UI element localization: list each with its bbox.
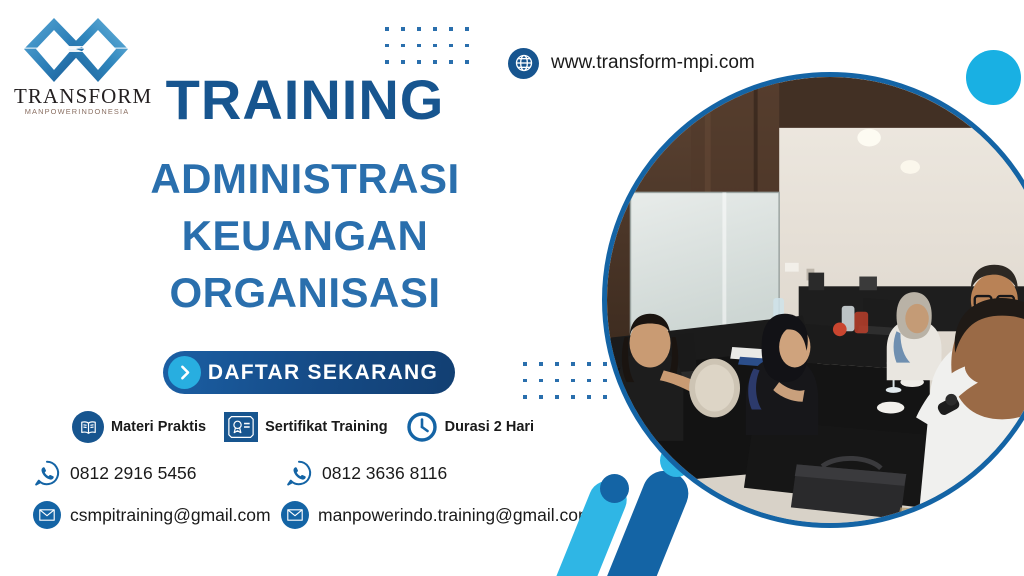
feature-item-durasi: Durasi 2 Hari bbox=[406, 409, 552, 445]
feature-label-sertifikat-training: Sertifikat Training bbox=[265, 419, 387, 435]
contact-email-1[interactable]: csmpitraining@gmail.com bbox=[33, 500, 271, 530]
register-now-label: DAFTAR SEKARANG bbox=[201, 361, 455, 385]
website-url-text: www.transform-mpi.com bbox=[551, 52, 755, 74]
chevron-right-icon bbox=[168, 356, 201, 389]
book-icon bbox=[72, 411, 104, 443]
page-title: TRAINING bbox=[20, 72, 590, 128]
contact-phone-2-number: 0812 3636 8116 bbox=[322, 463, 447, 484]
envelope-icon bbox=[281, 501, 309, 529]
subtitle-line-1: ADMINISTRASI bbox=[20, 158, 590, 200]
training-session-photo bbox=[602, 72, 1024, 528]
whatsapp-phone-icon bbox=[33, 459, 61, 487]
subtitle-line-2: KEUANGAN bbox=[20, 215, 590, 257]
decorative-dot-grid-top bbox=[385, 27, 469, 64]
feature-label-durasi: Durasi 2 Hari bbox=[445, 419, 534, 435]
register-now-button[interactable]: DAFTAR SEKARANG bbox=[163, 351, 455, 394]
training-session-photo-illustration bbox=[607, 77, 1024, 523]
clock-icon bbox=[406, 411, 438, 443]
feature-item-sertifikat-training: Sertifikat Training bbox=[224, 409, 405, 445]
contact-phone-1[interactable]: 0812 2916 5456 bbox=[33, 458, 197, 488]
subtitle-line-3: ORGANISASI bbox=[20, 272, 590, 314]
contact-email-1-address: csmpitraining@gmail.com bbox=[70, 505, 271, 526]
promotional-poster: TRANSFORM MANPOWERINDONESIA www.transfor… bbox=[0, 0, 1024, 576]
feature-label-materi-praktis: Materi Praktis bbox=[111, 419, 206, 435]
feature-list: Materi Praktis Sertifikat Training bbox=[72, 409, 552, 445]
certificate-icon bbox=[224, 412, 258, 442]
envelope-icon bbox=[33, 501, 61, 529]
whatsapp-phone-icon bbox=[285, 459, 313, 487]
feature-item-materi-praktis: Materi Praktis bbox=[72, 409, 224, 445]
contact-email-2-address: manpowerindo.training@gmail.com bbox=[318, 505, 593, 526]
contact-phone-2[interactable]: 0812 3636 8116 bbox=[285, 458, 447, 488]
decorative-dot-grid-middle bbox=[523, 362, 607, 399]
decorative-circle-cyan-top bbox=[966, 50, 1021, 105]
contact-phone-1-number: 0812 2916 5456 bbox=[70, 463, 197, 484]
contact-email-2[interactable]: manpowerindo.training@gmail.com bbox=[281, 500, 593, 530]
